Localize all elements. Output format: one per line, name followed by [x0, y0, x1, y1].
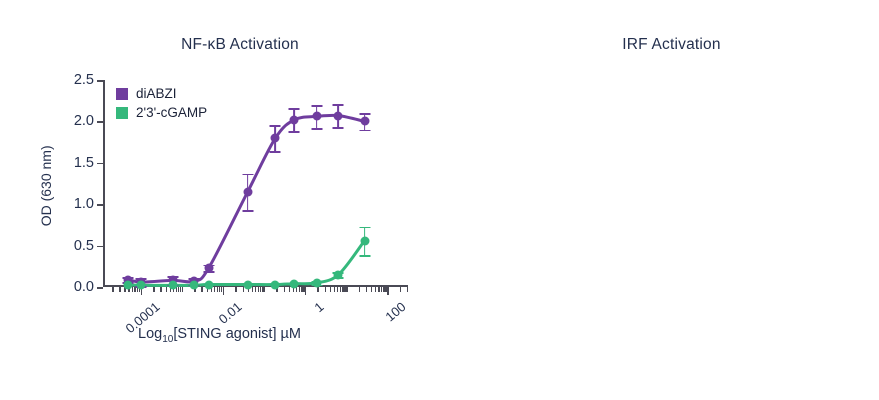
x-tick-minor	[217, 287, 218, 292]
chart-panel-irf: IRF Activation Fold change (over non-ind…	[440, 0, 879, 400]
y-tick	[97, 287, 103, 289]
x-tick-major	[305, 287, 306, 295]
x-tick-major	[223, 287, 224, 295]
error-bar-cap	[289, 131, 300, 133]
x-tick-minor	[112, 287, 113, 292]
x-tick-label: 100	[383, 299, 409, 324]
x-axis-label-subscript: 10	[162, 334, 173, 345]
x-tick-minor	[371, 287, 372, 292]
x-tick-minor	[330, 287, 331, 292]
x-tick-minor	[289, 287, 290, 292]
data-point	[360, 117, 369, 126]
data-point	[334, 111, 343, 120]
x-tick-minor	[119, 287, 120, 292]
legend-swatch-diabzi	[116, 88, 128, 100]
y-tick-label: 1.0	[74, 196, 94, 212]
x-tick-minor	[284, 287, 285, 292]
x-tick-minor	[359, 287, 360, 292]
y-tick-label: 2.0	[74, 113, 94, 129]
data-point	[312, 278, 321, 287]
x-tick-minor	[317, 287, 318, 292]
y-tick-label: 1.5	[74, 155, 94, 171]
x-tick-minor	[400, 287, 401, 292]
x-tick-minor	[166, 287, 167, 292]
x-tick-minor	[153, 287, 154, 292]
x-tick-minor	[334, 287, 335, 292]
x-tick-minor	[201, 287, 202, 292]
x-tick-minor	[381, 287, 382, 292]
series-curve	[128, 241, 364, 286]
error-bar-cap	[359, 227, 370, 229]
y-tick-label: 0.0	[74, 279, 94, 295]
x-axis-label-nfkb: Log10[STING agonist] µM	[138, 326, 301, 345]
x-tick-minor	[325, 287, 326, 292]
x-tick-minor	[255, 287, 256, 292]
data-point	[271, 133, 280, 142]
y-axis-label-nfkb: OD (630 nm)	[39, 101, 55, 271]
x-tick-minor	[340, 287, 341, 292]
error-bar-cap	[242, 210, 253, 212]
x-tick-minor	[378, 287, 379, 292]
x-tick-minor	[258, 287, 259, 292]
figure-root: NF-κB Activation OD (630 nm) Log10[STING…	[0, 0, 879, 400]
data-point	[204, 263, 213, 272]
x-tick-minor	[375, 287, 376, 292]
legend-label-diabzi: diABZI	[136, 86, 177, 101]
y-tick-label: 0.5	[74, 238, 94, 254]
x-tick-label: 1	[312, 299, 327, 315]
error-bar-cap	[270, 151, 281, 153]
data-point	[360, 236, 369, 245]
x-axis-label-suffix: [STING agonist] µM	[173, 326, 301, 342]
error-bar-cap	[333, 104, 344, 106]
x-tick-minor	[160, 287, 161, 292]
x-tick-minor	[252, 287, 253, 292]
x-tick-minor	[346, 287, 347, 292]
error-bar-cap	[359, 113, 370, 115]
data-point	[124, 280, 133, 289]
chart-title-nfkb: NF-κB Activation	[0, 36, 460, 54]
error-bar-cap	[270, 125, 281, 127]
data-point	[290, 115, 299, 124]
error-bar-cap	[359, 130, 370, 132]
error-bar-cap	[311, 105, 322, 107]
chart-title-irf: IRF Activation	[440, 36, 879, 54]
legend-label-cgamp: 2'3'-cGAMP	[136, 105, 207, 120]
x-tick-minor	[214, 287, 215, 292]
x-tick-minor	[235, 287, 236, 292]
x-tick-minor	[264, 287, 265, 292]
data-point	[290, 279, 299, 288]
error-bar-cap	[359, 255, 370, 257]
data-point	[334, 270, 343, 279]
legend-nfkb: diABZI 2'3'-cGAMP	[116, 84, 207, 122]
legend-item-diabzi: diABZI	[116, 84, 207, 103]
chart-panel-nfkb: NF-κB Activation OD (630 nm) Log10[STING…	[0, 0, 440, 400]
x-tick-minor	[407, 287, 408, 292]
x-axis-label-prefix: Log	[138, 326, 162, 342]
data-point	[136, 281, 145, 290]
x-tick-minor	[299, 287, 300, 292]
legend-item-cgamp: 2'3'-cGAMP	[116, 103, 207, 122]
error-bar-cap	[242, 174, 253, 176]
x-tick-minor	[337, 287, 338, 292]
data-point	[243, 187, 252, 196]
x-tick-major	[387, 287, 388, 295]
error-bar-cap	[311, 128, 322, 130]
x-tick-minor	[182, 287, 183, 292]
data-point	[312, 112, 321, 121]
data-point	[168, 281, 177, 290]
x-tick-minor	[366, 287, 367, 292]
data-point	[243, 280, 252, 289]
error-bar-cap	[333, 127, 344, 129]
error-bar-cap	[289, 108, 300, 110]
data-point	[271, 280, 280, 289]
data-point	[204, 280, 213, 289]
legend-swatch-cgamp	[116, 107, 128, 119]
y-tick-label: 2.5	[74, 72, 94, 88]
data-point	[190, 281, 199, 290]
x-tick-label: 0.01	[216, 299, 245, 327]
x-tick-minor	[132, 287, 133, 292]
